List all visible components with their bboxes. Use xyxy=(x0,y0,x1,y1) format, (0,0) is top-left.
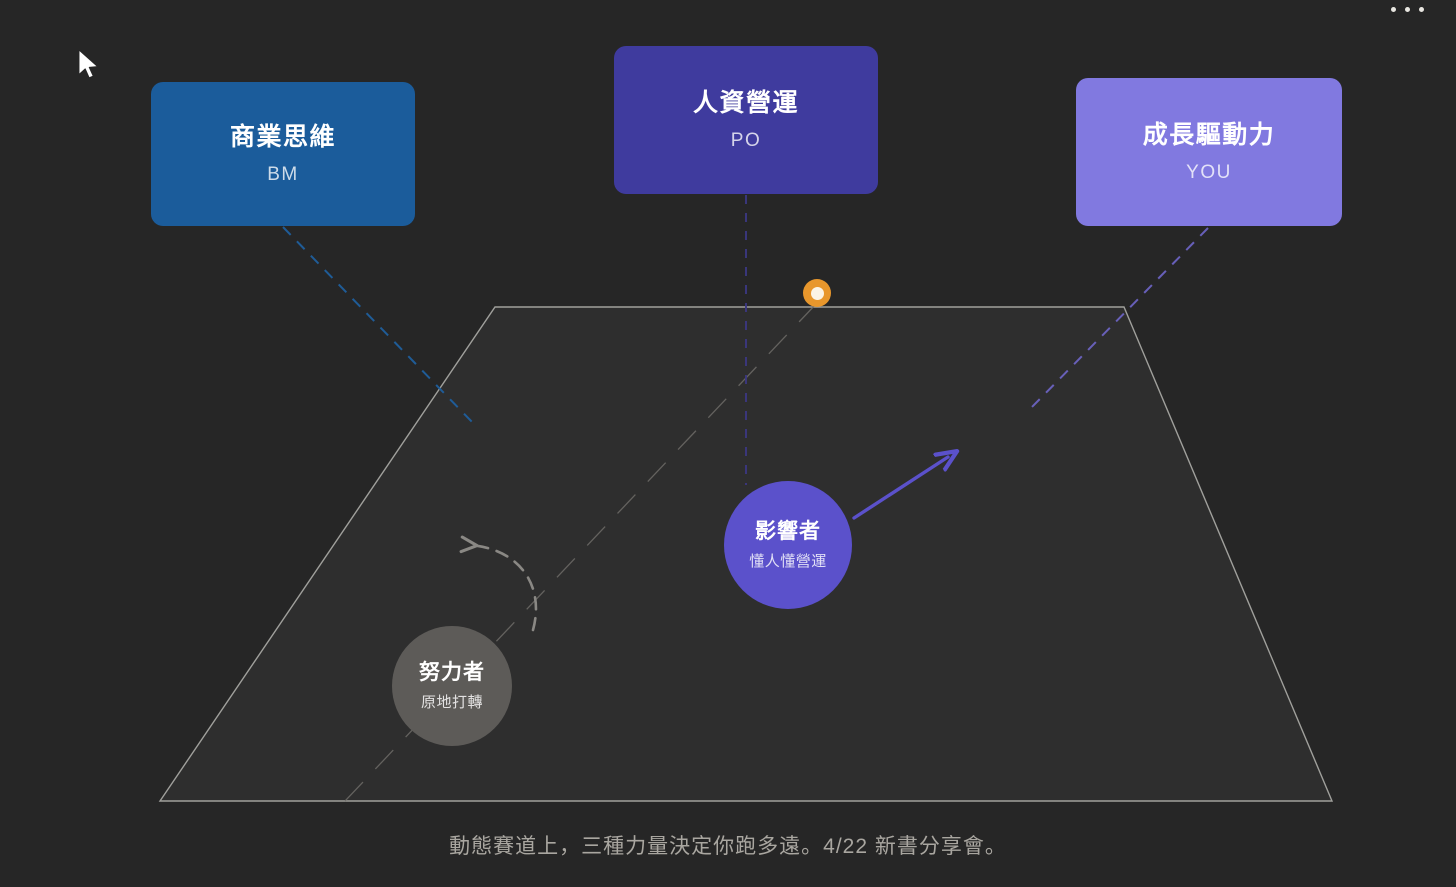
card-growth-driver[interactable]: 成長驅動力 YOU xyxy=(1076,78,1342,226)
node-influencer-subtitle: 懂人懂營運 xyxy=(749,550,827,571)
page-caption: 動態賽道上，三種力量決定你跑多遠。4/22 新書分享會。 xyxy=(0,830,1456,860)
progress-marker-icon[interactable] xyxy=(803,279,831,307)
node-striver-subtitle: 原地打轉 xyxy=(421,691,483,712)
node-striver[interactable]: 努力者 原地打轉 xyxy=(392,626,512,746)
card-business-mindset[interactable]: 商業思維 BM xyxy=(151,82,415,226)
node-influencer-title: 影響者 xyxy=(755,519,821,544)
card-po-subtitle: PO xyxy=(731,130,761,152)
diagram-stage: 商業思維 BM 人資營運 PO 成長驅動力 YOU 影響者 懂人懂營運 努力者 … xyxy=(0,0,1456,887)
card-bm-title: 商業思維 xyxy=(230,122,336,153)
node-influencer[interactable]: 影響者 懂人懂營運 xyxy=(724,481,852,609)
card-people-operations[interactable]: 人資營運 PO xyxy=(614,46,878,194)
node-striver-title: 努力者 xyxy=(419,660,485,685)
card-you-subtitle: YOU xyxy=(1186,162,1232,184)
progress-marker-core xyxy=(811,287,824,300)
card-po-title: 人資營運 xyxy=(693,88,799,119)
card-bm-subtitle: BM xyxy=(267,164,299,186)
card-you-title: 成長驅動力 xyxy=(1143,120,1276,151)
